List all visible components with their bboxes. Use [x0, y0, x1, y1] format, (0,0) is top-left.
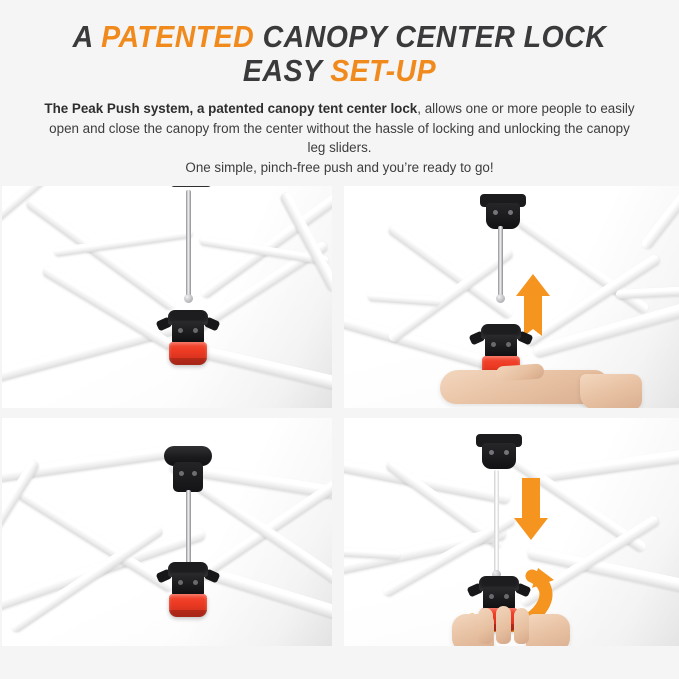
hands-gripping	[452, 604, 572, 646]
top-bracket	[472, 434, 526, 478]
header: A PATENTED CANOPY CENTER LOCK EASY SET-U…	[0, 0, 679, 177]
description-closing-line: One simple, pinch-free push and you’re r…	[185, 160, 493, 175]
center-rod	[498, 226, 503, 298]
arrow-head	[514, 518, 548, 540]
rod-top-cap	[162, 186, 220, 228]
finger	[496, 606, 511, 644]
center-rod	[186, 190, 191, 298]
page-title-line-1: A PATENTED CANOPY CENTER LOCK	[27, 20, 652, 54]
bracket-body	[486, 203, 520, 229]
arrow-shaft	[522, 478, 540, 520]
center-lock-hub	[159, 562, 217, 618]
description-bold-lead: The Peak Push system, a patented canopy …	[44, 101, 417, 116]
hand-open-palm	[440, 370, 640, 408]
bracket-body	[482, 443, 516, 469]
cap-stem	[173, 462, 203, 492]
title-part-b: CANOPY CENTER LOCK	[254, 19, 606, 54]
title-part-a: A	[73, 19, 101, 54]
panel-4	[344, 418, 679, 646]
title-highlight-patented: PATENTED	[101, 19, 254, 54]
cap-disc	[171, 186, 211, 187]
rod-tip	[184, 294, 193, 303]
right-hand	[526, 614, 570, 646]
title-part-easy: EASY	[243, 53, 330, 88]
panel-3	[2, 418, 332, 646]
top-bracket	[476, 194, 530, 238]
arrow-head	[516, 274, 550, 296]
finger	[514, 608, 529, 644]
arrow-down-icon	[522, 478, 556, 540]
page-title-line-2: EASY SET-UP	[27, 54, 652, 88]
panel-2	[344, 186, 679, 408]
illustration-grid	[0, 186, 679, 646]
center-rod	[186, 490, 191, 568]
center-rod	[494, 470, 499, 576]
rod-tip	[496, 294, 505, 303]
red-collar	[169, 342, 207, 365]
finger	[478, 608, 493, 644]
wrist	[580, 374, 642, 408]
red-collar	[169, 594, 207, 617]
center-lock-hub	[159, 310, 217, 366]
description-paragraph: The Peak Push system, a patented canopy …	[0, 99, 679, 177]
title-highlight-setup: SET-UP	[330, 53, 436, 88]
panel-1	[2, 186, 332, 408]
